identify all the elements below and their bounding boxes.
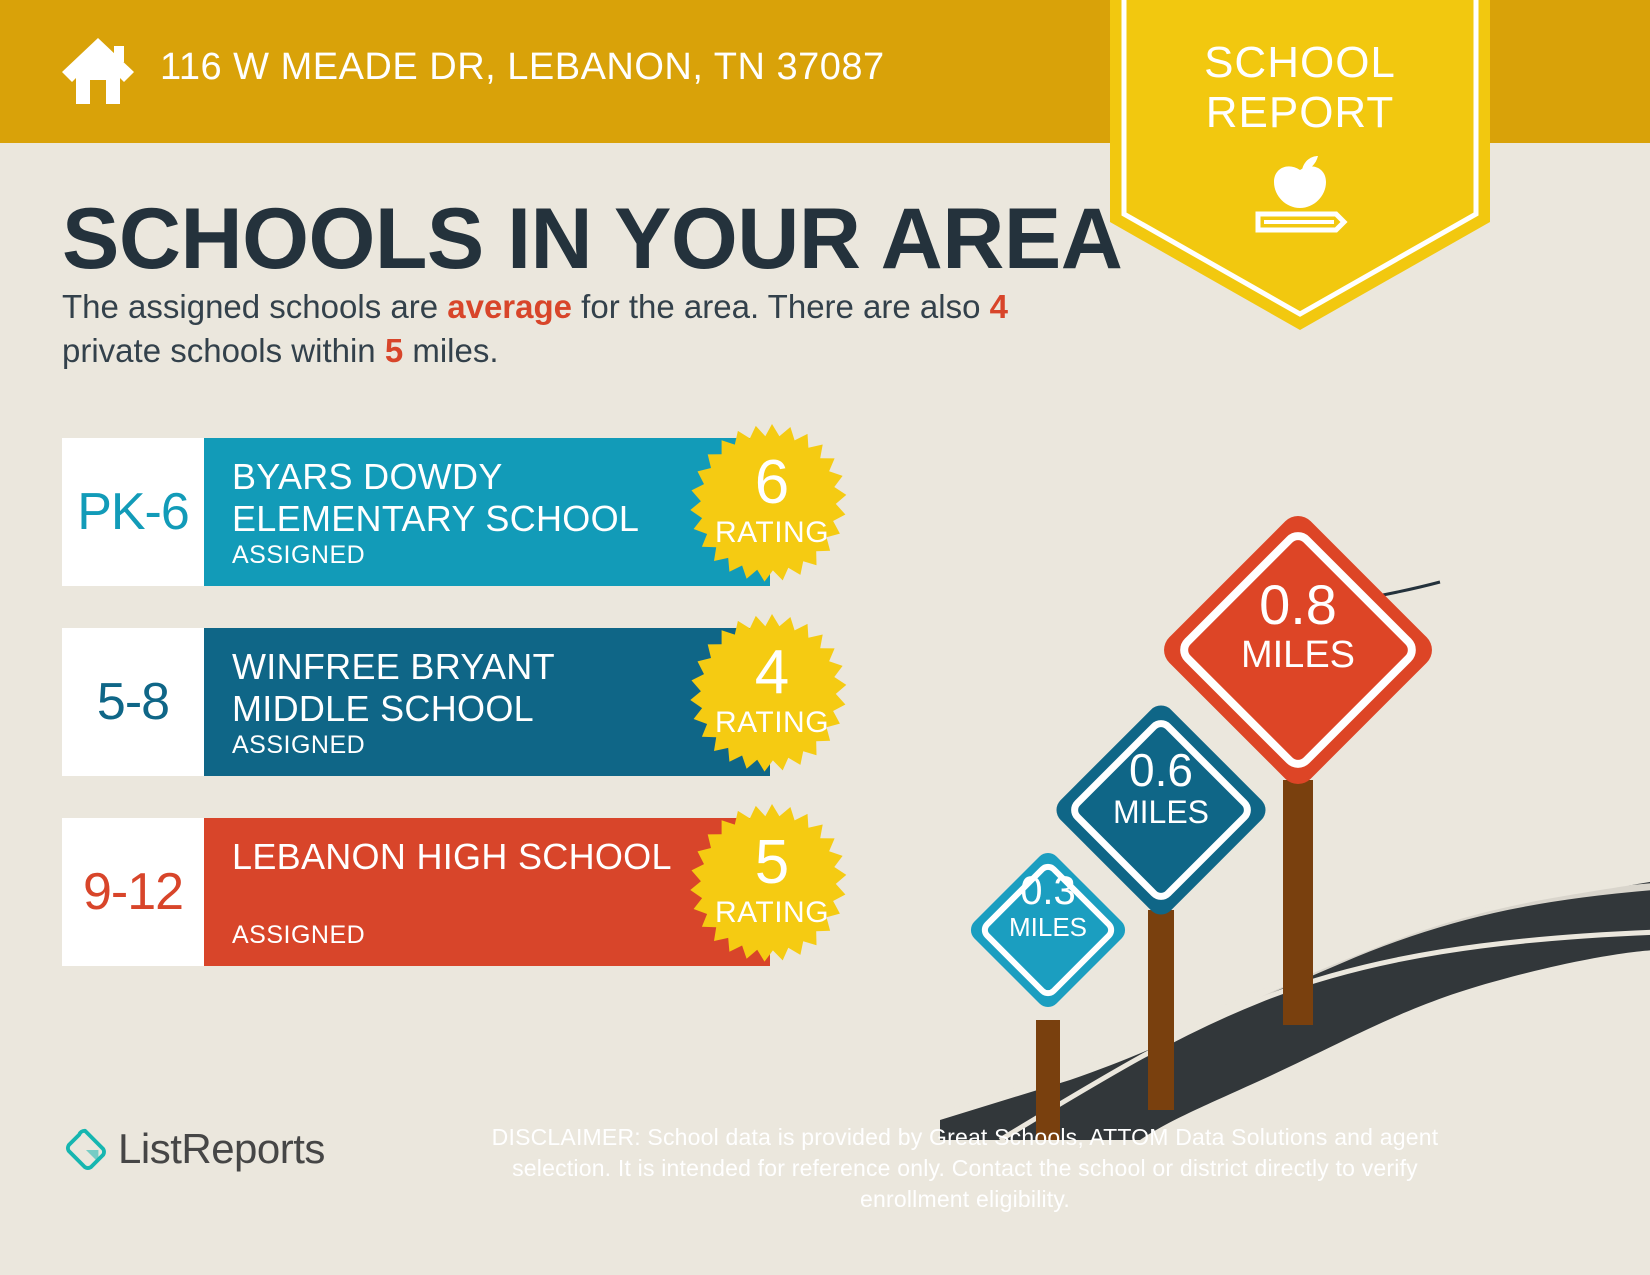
infographic-canvas: 116 W MEADE DR, LEBANON, TN 37087 SCHOOL…	[0, 0, 1650, 1275]
school-status: ASSIGNED	[232, 921, 365, 950]
grade-range-label: PK-6	[77, 482, 189, 542]
rating-label: RATING	[682, 896, 862, 930]
ribbon-line-1: SCHOOL	[1110, 38, 1490, 88]
school-list: PK-6 BYARS DOWDY ELEMENTARY SCHOOL ASSIG…	[62, 438, 862, 1008]
house-pin-logo-icon	[62, 1126, 108, 1172]
rating-value: 6	[682, 452, 862, 514]
road-scene-svg	[940, 480, 1650, 1140]
subtitle-text-1: The assigned schools are	[62, 288, 447, 325]
rating-badge: 6 RATING	[682, 422, 862, 602]
grade-range-label: 9-12	[83, 862, 183, 922]
school-row[interactable]: 5-8 WINFREE BRYANT MIDDLE SCHOOL ASSIGNE…	[62, 628, 862, 776]
grade-range-box: 5-8	[62, 628, 204, 776]
rating-value: 5	[682, 832, 862, 894]
school-row[interactable]: PK-6 BYARS DOWDY ELEMENTARY SCHOOL ASSIG…	[62, 438, 862, 586]
distance-sign-small	[966, 848, 1130, 1012]
school-row[interactable]: 9-12 LEBANON HIGH SCHOOL ASSIGNED 5 RATI…	[62, 818, 862, 966]
sign-post-large	[1283, 780, 1313, 1025]
subtitle-highlight-radius: 5	[385, 332, 403, 369]
grade-range-label: 5-8	[97, 672, 169, 732]
ribbon-line-2: REPORT	[1110, 88, 1490, 138]
page-title: SCHOOLS IN YOUR AREA	[62, 190, 1122, 289]
subtitle-text-3: private schools within	[62, 332, 385, 369]
rating-badge: 5 RATING	[682, 802, 862, 982]
subtitle-text-2: for the area. There are also	[572, 288, 990, 325]
apple-on-book-icon	[1248, 152, 1352, 242]
subtitle-highlight-average: average	[447, 288, 572, 325]
school-name: WINFREE BRYANT MIDDLE SCHOOL	[232, 646, 702, 730]
school-name: BYARS DOWDY ELEMENTARY SCHOOL	[232, 456, 702, 540]
property-address: 116 W MEADE DR, LEBANON, TN 37087	[160, 46, 885, 89]
school-name: LEBANON HIGH SCHOOL	[232, 836, 702, 878]
school-status: ASSIGNED	[232, 541, 365, 570]
brand-name: ListReports	[118, 1125, 325, 1173]
grade-range-box: PK-6	[62, 438, 204, 586]
sign-post-medium	[1148, 910, 1174, 1110]
rating-label: RATING	[682, 706, 862, 740]
school-status: ASSIGNED	[232, 731, 365, 760]
rating-value: 4	[682, 642, 862, 704]
page-subtitle: The assigned schools are average for the…	[62, 285, 1092, 373]
rating-badge: 4 RATING	[682, 612, 862, 792]
subtitle-text-4: miles.	[403, 332, 498, 369]
brand-logo[interactable]: ListReports	[62, 1117, 362, 1181]
school-report-ribbon: SCHOOL REPORT	[1110, 0, 1490, 330]
disclaimer-text: DISCLAIMER: School data is provided by G…	[455, 1122, 1475, 1215]
ribbon-title: SCHOOL REPORT	[1110, 38, 1490, 138]
rating-label: RATING	[682, 516, 862, 550]
distance-road-illustration: 0.3 MILES 0.6 MILES 0.8 MILES	[940, 480, 1650, 1140]
home-icon	[58, 30, 138, 110]
subtitle-highlight-count: 4	[990, 288, 1008, 325]
grade-range-box: 9-12	[62, 818, 204, 966]
